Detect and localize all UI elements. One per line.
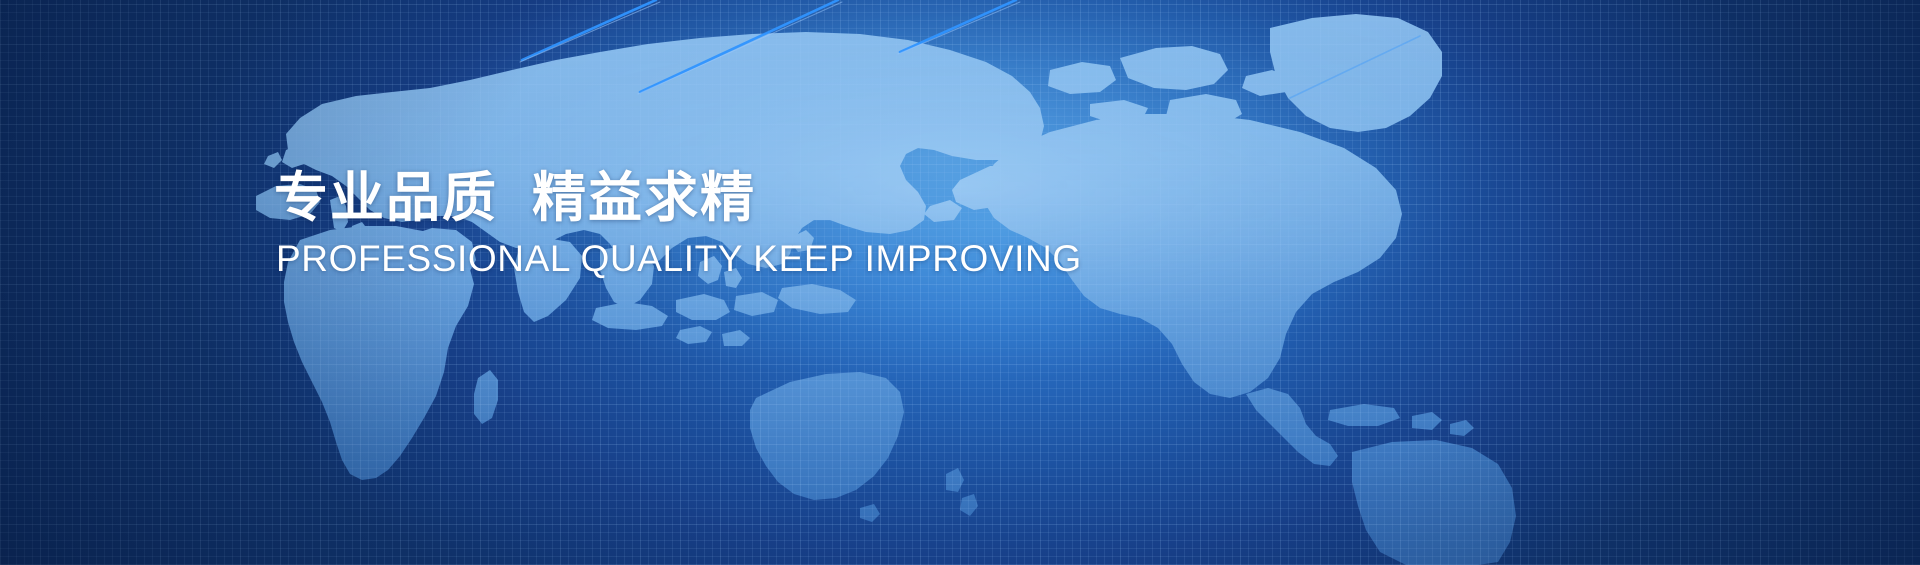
vignette-overlay	[0, 0, 1920, 565]
banner-headline-cn: 专业品质 精益求精	[274, 166, 1254, 230]
banner-copy: 专业品质 精益求精 PROFESSIONAL QUALITY KEEP IMPR…	[274, 166, 1254, 282]
banner-subheadline-en: PROFESSIONAL QUALITY KEEP IMPROVING	[276, 236, 1254, 282]
hero-banner: 专业品质 精益求精 PROFESSIONAL QUALITY KEEP IMPR…	[0, 0, 1920, 565]
